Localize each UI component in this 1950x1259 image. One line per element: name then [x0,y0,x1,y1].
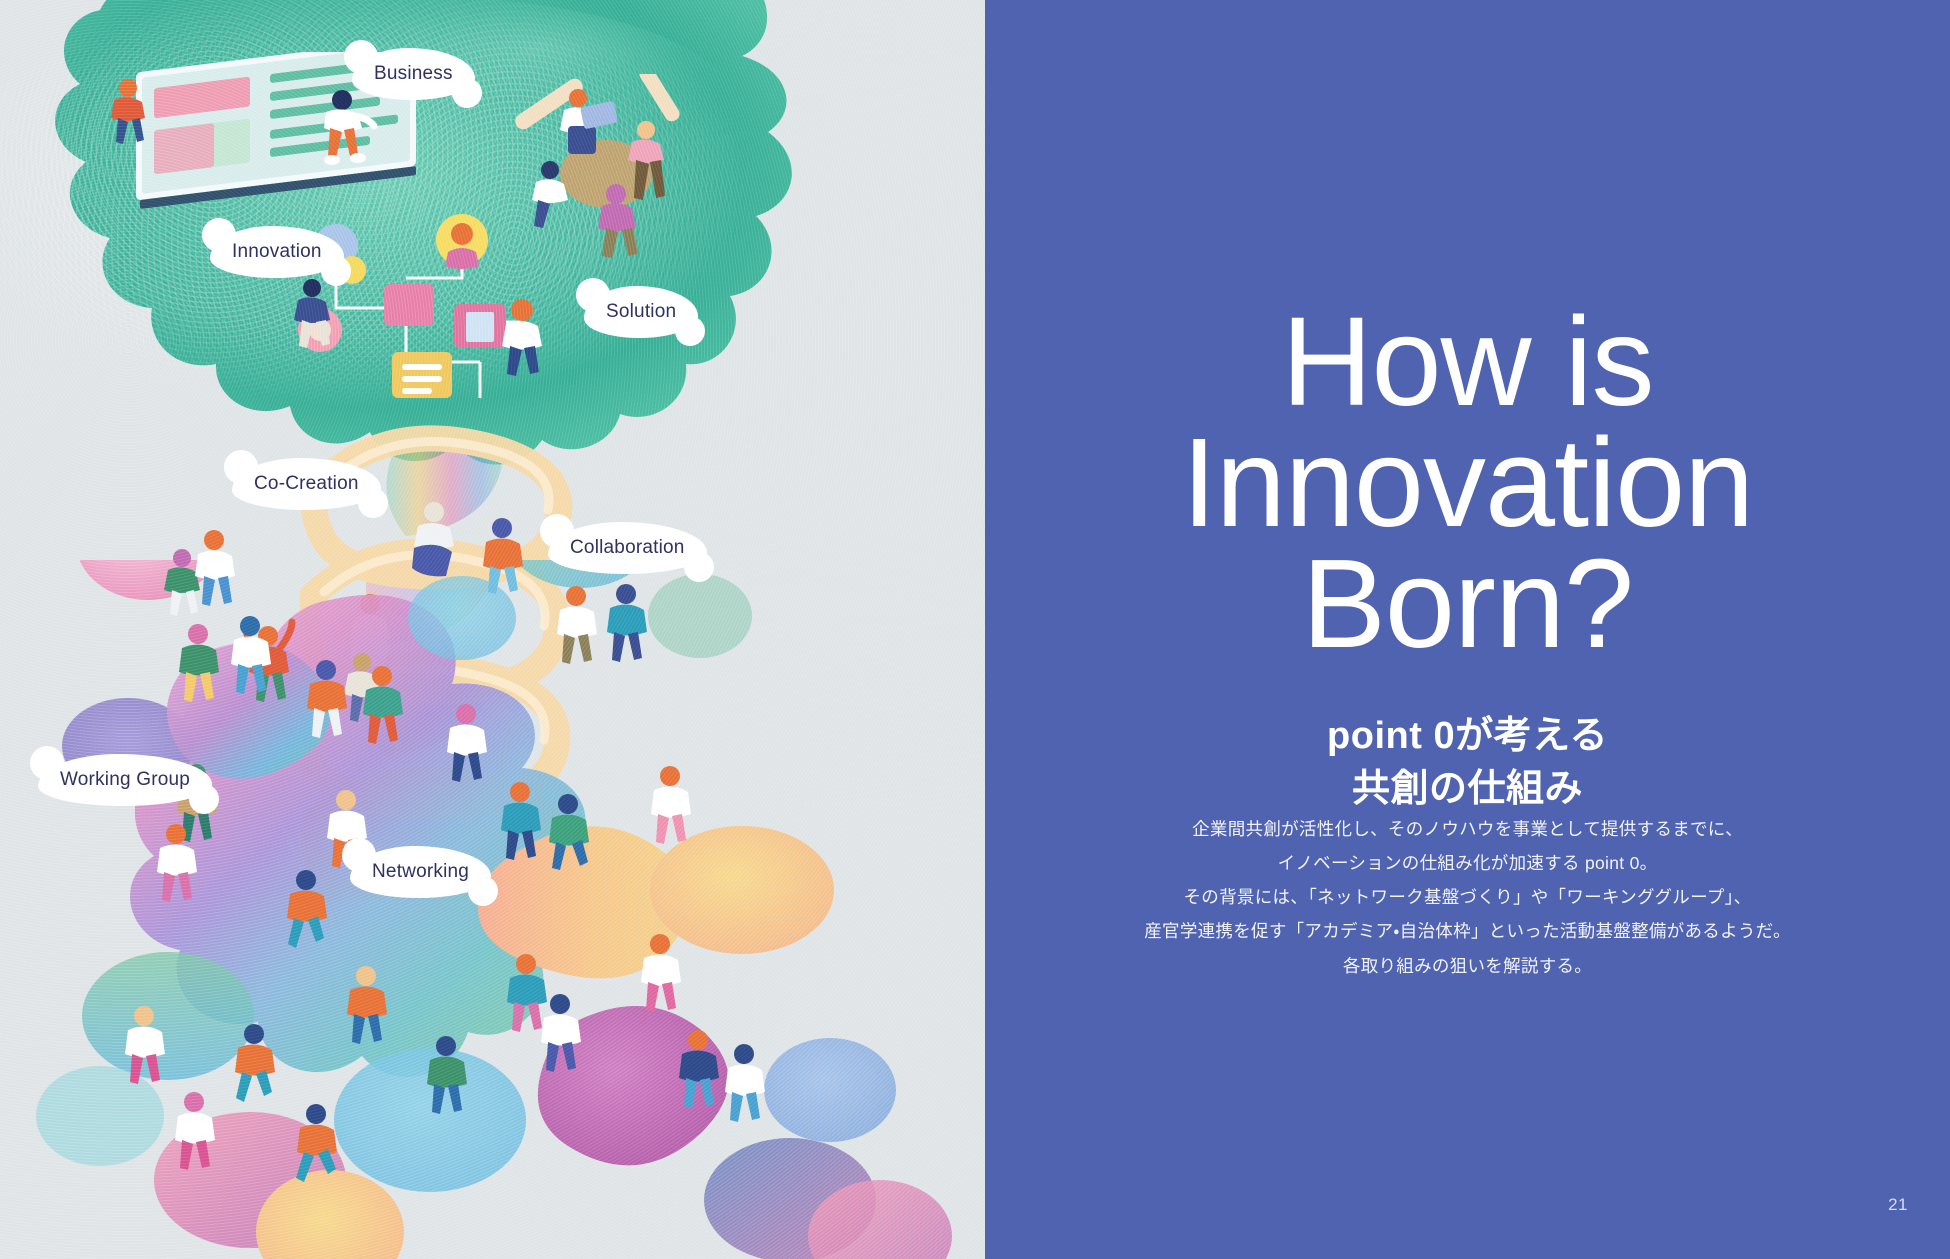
lead-paragraph: 企業間共創が活性化し、そのノウハウを事業として提供するまでに、 イノベーションの… [985,812,1950,983]
person-figure [300,656,354,748]
label-bubble-text: Innovation [232,241,322,263]
person-figure [286,276,342,362]
person-figure [718,1040,772,1132]
body-line-1: 企業間共創が活性化し、そのノウハウを事業として提供するまでに、 [985,812,1950,846]
subtitle-line-1: point 0が考える [985,710,1950,764]
headline-line-3: Born? [985,544,1950,665]
person-figure [340,962,394,1054]
person-figure [228,1020,282,1112]
person-figure [170,620,226,712]
label-bubble-collaboration: Collaboration [548,522,707,574]
person-figure [290,1100,344,1192]
page-subtitle: point 0が考える 共創の仕組み [985,710,1950,818]
person-figure [596,580,654,674]
person-figure [440,700,494,792]
person-figure [150,820,204,912]
subtitle-line-2: 共創の仕組み [985,763,1950,817]
headline-line-1: How is [985,302,1950,423]
person-figure [118,1002,172,1094]
text-panel: How is Innovation Born? point 0が考える 共創の仕… [985,0,1950,1259]
label-bubble-text: Co-Creation [254,473,359,495]
label-bubble-text: Working Group [60,769,190,791]
body-line-4: 産官学連携を促す「アカデミア・自治体枠」といった活動基盤整備があるようだ。 [985,914,1950,948]
page-number: 21 [1888,1195,1908,1215]
community-blobs [0,560,985,1259]
person-figure [188,528,242,614]
person-figure [540,790,596,882]
label-bubble-text: Collaboration [570,537,685,559]
label-bubble-text: Business [374,63,453,85]
co-creation-tree-illustration: BusinessInnovationSolutionCo-CreationCol… [0,0,985,1259]
person-figure [634,930,688,1022]
body-line-5: 各取り組みの狙いを解説する。 [985,949,1950,983]
illustration-panel: BusinessInnovationSolutionCo-CreationCol… [0,0,985,1259]
body-line-2: イノベーションの仕組み化が加速する point 0。 [985,846,1950,880]
headline-line-2: Innovation [985,423,1950,544]
person-figure [494,778,548,870]
label-bubble-text: Networking [372,861,469,883]
page-title: How is Innovation Born? [985,302,1950,665]
person-figure [490,296,552,392]
person-figure [474,514,530,606]
label-bubble-text: Solution [606,301,676,323]
magazine-spread: BusinessInnovationSolutionCo-CreationCol… [0,0,1950,1259]
body-line-3: その背景には、「ネットワーク基盤づくり」や「ワーキンググループ」、 [985,880,1950,914]
person-figure [310,88,380,180]
person-figure [280,866,334,958]
person-figure [644,762,698,854]
person-figure [534,990,588,1082]
person-figure [356,662,410,754]
person-figure [420,1032,474,1124]
person-figure [222,612,278,704]
person-figure [104,76,156,156]
person-figure [168,1088,222,1180]
